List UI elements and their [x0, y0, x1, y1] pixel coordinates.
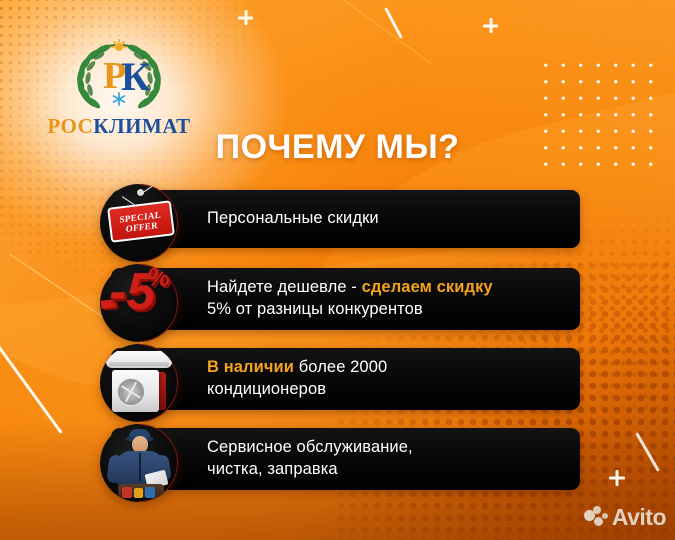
discount-value: -5 %: [103, 270, 175, 336]
laurel-wreath-monogram-icon: Р К: [59, 38, 179, 112]
benefit-text-line1: более 2000: [294, 358, 387, 376]
svg-text:К: К: [121, 54, 150, 99]
benefit-text-highlight: сделаем скидку: [362, 278, 493, 296]
benefit-text-highlight: В наличии: [207, 358, 294, 376]
air-conditioner-graphic: [106, 351, 172, 415]
percent-sign: %: [147, 264, 170, 290]
ac-outdoor-unit: [112, 370, 159, 412]
benefit-bar: В наличии более 2000 кондиционеров: [111, 348, 580, 410]
benefits-list: Персональные скидки SPECIAL OFFER Найдет…: [0, 186, 675, 506]
avito-dot-3: [594, 517, 603, 526]
technician-tool-blue: [145, 487, 155, 498]
air-conditioner-icon: [100, 344, 178, 422]
benefit-text-line1: Сервисное обслуживание,: [207, 438, 413, 456]
technician-tool-yellow: [134, 488, 143, 498]
service-technician-icon: [100, 424, 178, 502]
ac-fan-icon: [117, 378, 145, 406]
avito-dot-2: [593, 506, 601, 514]
benefit-text: Найдете дешевле - сделаем скидку 5% от р…: [207, 277, 493, 321]
benefit-bar: Сервисное обслуживание, чистка, заправка: [111, 428, 580, 490]
benefit-text-line1: Персональные скидки: [207, 209, 379, 227]
decorative-plus-top-right: [483, 18, 498, 33]
minus-five-percent-icon: -5 %: [100, 264, 178, 342]
avito-dot-4: [602, 513, 608, 519]
avito-logo-icon: [584, 506, 608, 528]
avito-watermark: Avito: [584, 504, 666, 530]
benefit-row: Найдете дешевле - сделаем скидку 5% от р…: [0, 266, 675, 346]
benefit-text-line2: кондиционеров: [207, 380, 326, 398]
benefit-bar: Персональные скидки: [111, 190, 580, 248]
ac-pipe: [163, 401, 177, 419]
benefit-text-line2: 5% от разницы конкурентов: [207, 300, 423, 318]
technician-tool-red: [122, 487, 132, 498]
benefit-bar: Найдете дешевле - сделаем скидку 5% от р…: [111, 268, 580, 330]
special-offer-tag-icon: SPECIAL OFFER: [100, 184, 178, 262]
benefit-row: Персональные скидки SPECIAL OFFER: [0, 186, 675, 266]
promo-banner: Р К РОСКЛИМАТ ПОЧЕМУ МЫ? Персональные ск…: [0, 0, 675, 540]
benefit-text: В наличии более 2000 кондиционеров: [207, 357, 387, 401]
benefit-row: В наличии более 2000 кондиционеров: [0, 346, 675, 426]
avito-watermark-label: Avito: [612, 504, 666, 531]
technician-graphic: [100, 424, 178, 502]
benefit-text: Сервисное обслуживание, чистка, заправка: [207, 437, 413, 481]
benefit-text-line2: чистка, заправка: [207, 460, 338, 478]
benefit-text-line1: Найдете дешевле -: [207, 278, 362, 296]
benefit-row: Сервисное обслуживание, чистка, заправка: [0, 426, 675, 506]
page-title: ПОЧЕМУ МЫ?: [0, 128, 675, 167]
benefit-text: Персональные скидки: [207, 208, 379, 230]
ac-indoor-unit: [106, 351, 172, 368]
